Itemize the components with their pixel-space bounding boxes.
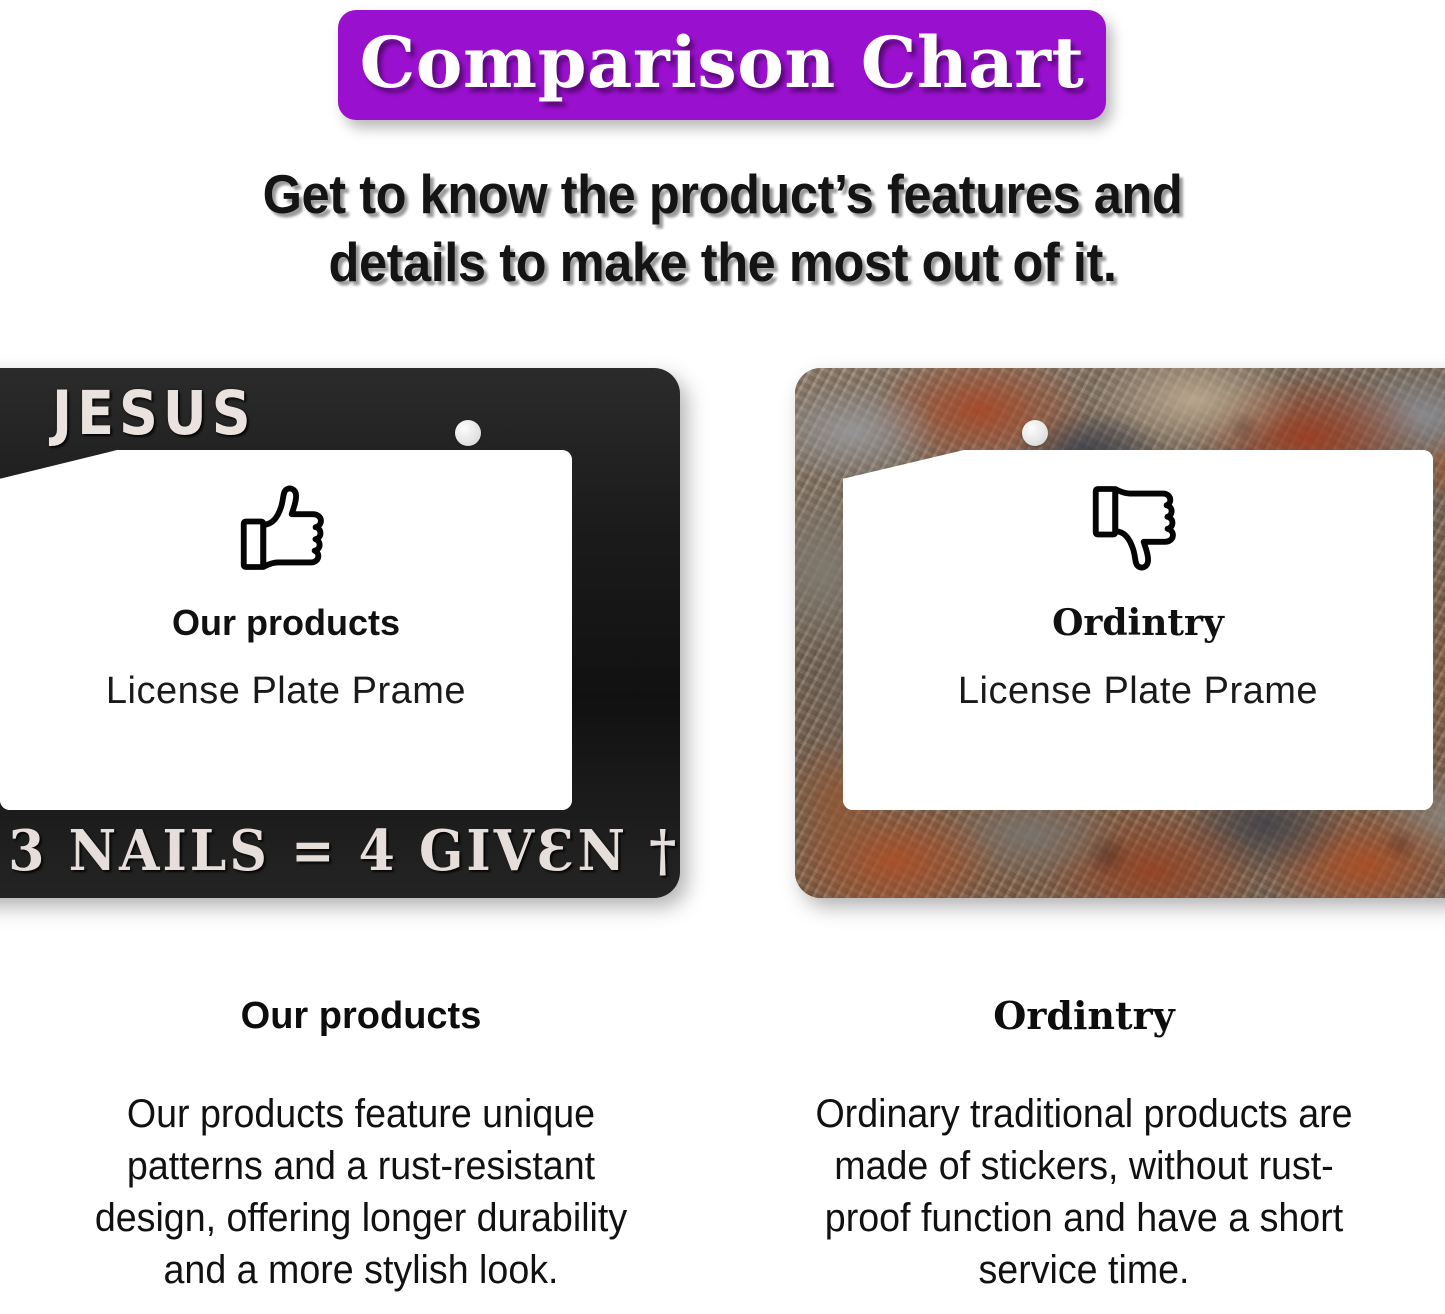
ours-column-heading: Our products <box>0 992 722 1040</box>
ordinary-product-label: License Plate Prame <box>958 668 1318 714</box>
subtitle: Get to know the product’s features and d… <box>58 160 1387 296</box>
our-plate-window: Our products License Plate Prame <box>0 450 572 810</box>
title-banner: Comparison Chart <box>338 10 1106 120</box>
comparison-columns: Our products Our products feature unique… <box>0 960 1445 1314</box>
thumbs-down-icon <box>1086 476 1190 580</box>
ordinary-column-heading: Ordintry <box>723 992 1445 1040</box>
ordinary-column-body: Ordinary traditional products are made o… <box>793 1088 1376 1296</box>
frame-top-band-text: JESUS <box>52 380 256 447</box>
ours-column-body: Our products feature unique patterns and… <box>70 1088 653 1296</box>
product-frames-row: JESUS Our products License Plate Prame +… <box>0 330 1445 930</box>
subtitle-line-1: Get to know the product’s features and <box>58 160 1387 228</box>
comparison-column-ours: Our products Our products feature unique… <box>0 960 722 1314</box>
header-area: Comparison Chart Get to know the product… <box>0 0 1445 330</box>
our-brand-label: Our products <box>172 602 400 644</box>
subtitle-line-2: details to make the most out of it. <box>58 228 1387 296</box>
frame-bottom-band-text: + 3 NAILS = 4 GIVƐN † <box>0 818 680 885</box>
ordinary-product-plate-frame: Ordintry License Plate Prame <box>795 368 1445 898</box>
ordinary-plate-window: Ordintry License Plate Prame <box>843 450 1433 810</box>
comparison-column-ordinary: Ordintry Ordinary traditional products a… <box>723 960 1445 1314</box>
thumbs-up-icon <box>234 476 338 580</box>
ordinary-brand-label: Ordintry <box>1052 602 1224 644</box>
page-title: Comparison Chart <box>360 28 1085 98</box>
screw-hole-icon <box>455 420 481 446</box>
screw-hole-icon <box>1022 420 1048 446</box>
our-product-plate-frame: JESUS Our products License Plate Prame +… <box>0 368 680 898</box>
our-product-label: License Plate Prame <box>106 668 466 714</box>
